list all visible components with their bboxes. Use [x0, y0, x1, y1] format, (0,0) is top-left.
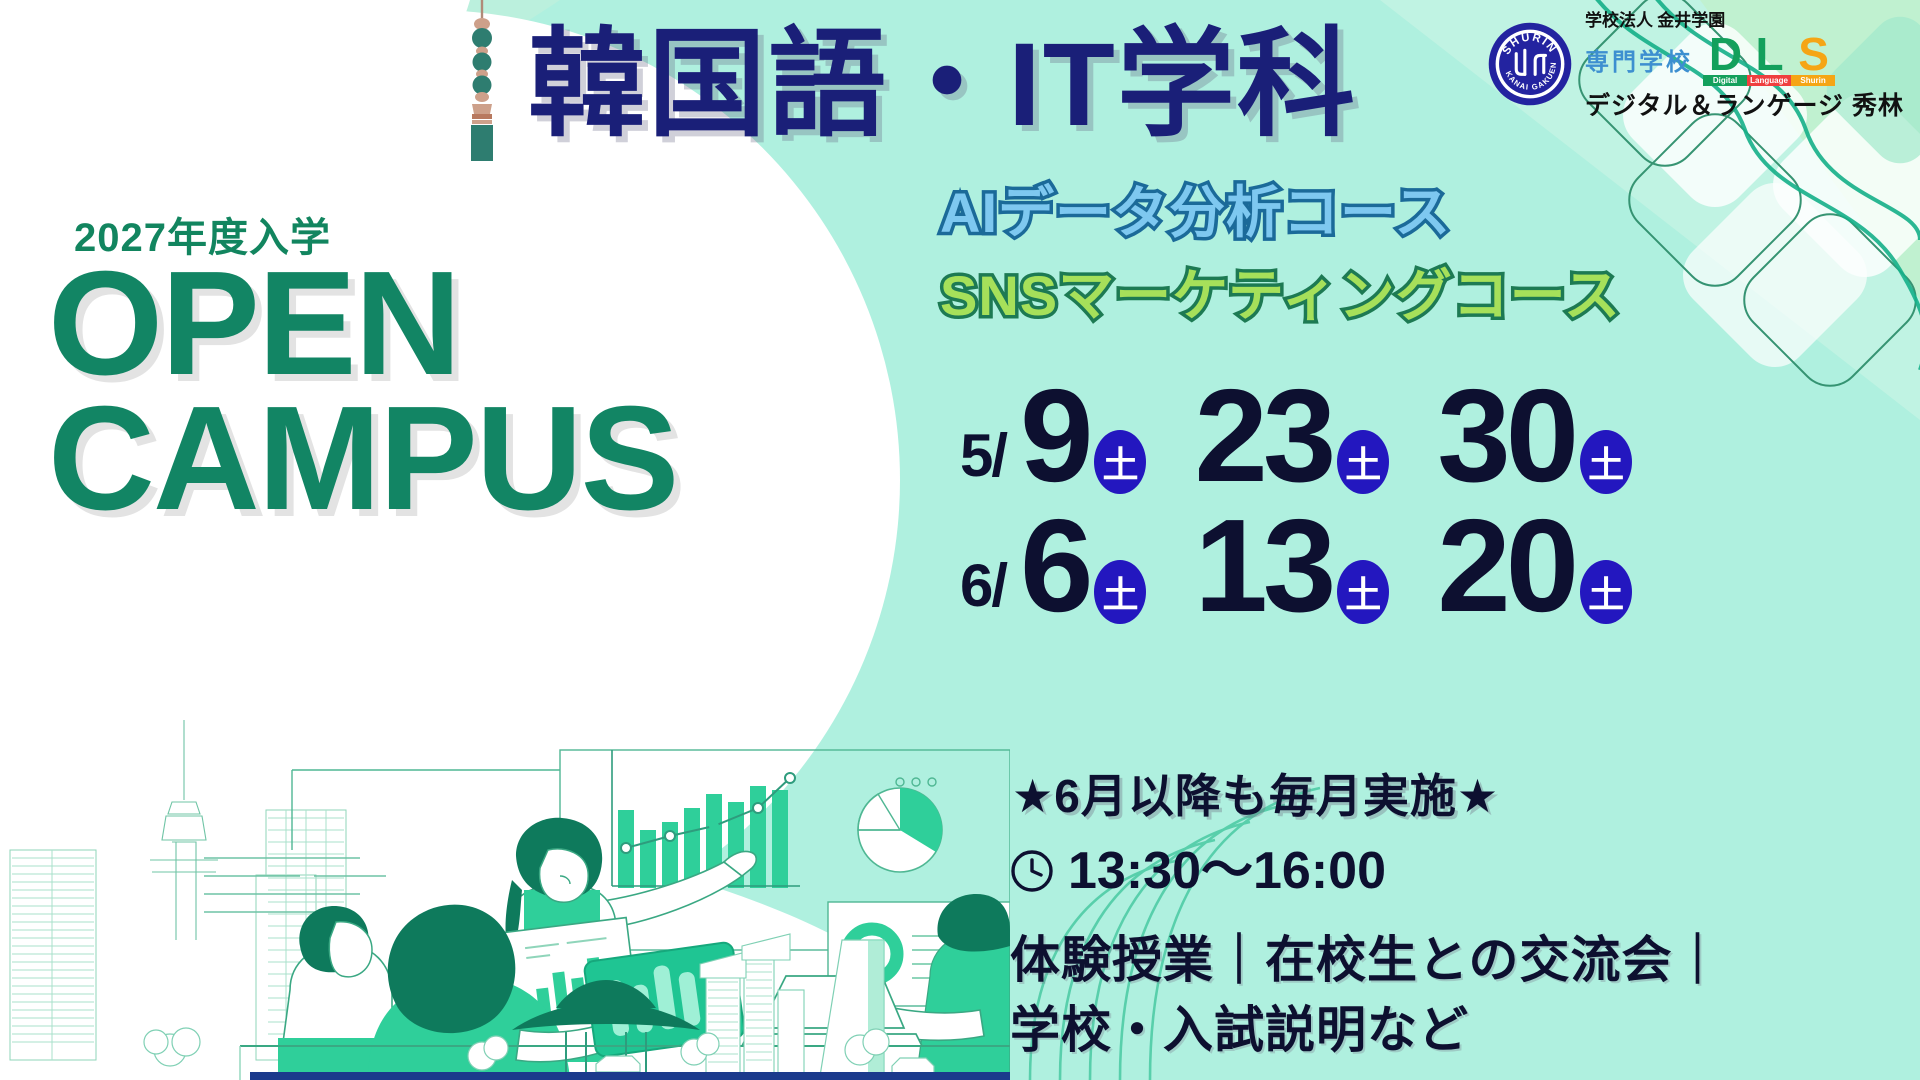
dls-letter-l: L Language [1747, 33, 1791, 85]
event-time-row: 13:30〜16:00 [1010, 845, 1386, 897]
school-type-label: 専門学校 [1585, 42, 1693, 77]
day-of-week-badge: 土 [1580, 560, 1632, 624]
data-analysis-team-seoul-skyline-illustration [0, 690, 1010, 1080]
dls-l-sub: Language [1747, 75, 1791, 86]
page-title: 韓国語・IT学科 [528, 18, 1357, 154]
poster-root: 2027年度入学 OPEN CAMPUS 韓国語・IT学科 AIデータ分析コース… [0, 0, 1920, 1080]
date-day: 6 [1020, 500, 1088, 632]
event-contents-line-2: 学校・入試説明など [1010, 1005, 1469, 1055]
logo-school-row: 専門学校 D Digital L Language S Shurin [1585, 33, 1904, 85]
dls-l-letter: L [1755, 33, 1782, 75]
dls-d-letter: D [1709, 33, 1741, 75]
corporation-name: 学校法人 金井学園 [1585, 6, 1725, 31]
dls-d-sub: Digital [1703, 75, 1747, 86]
course-label-sns: SNSマーケティングコース [940, 268, 1621, 324]
event-contents-line-1: 体験授業｜在校生との交流会｜ [1010, 935, 1724, 985]
day-of-week-badge: 土 [1337, 430, 1389, 494]
korean-norigae-tassel-icon [452, 0, 512, 162]
clock-icon [1010, 849, 1054, 893]
day-of-week-badge: 土 [1337, 560, 1389, 624]
date-day: 13 [1194, 500, 1331, 632]
schedule-row-june: 6/ 6 土 13 土 20 土 [960, 500, 1632, 632]
school-full-name: デジタル＆ランゲージ 秀林 [1585, 86, 1904, 122]
monthly-note: ★6月以降も毎月実施★ [1012, 760, 1499, 826]
month-label: 6/ [960, 556, 1006, 632]
dls-s-sub: Shurin [1791, 75, 1835, 86]
dls-letter-s: S Shurin [1791, 33, 1835, 85]
dls-mark: D Digital L Language S Shurin [1703, 33, 1835, 85]
logo-text-block: 学校法人 金井学園 専門学校 D Digital L Language S Sh… [1585, 6, 1904, 122]
course-label-ai: AIデータ分析コース [940, 185, 1451, 241]
day-of-week-badge: 土 [1580, 430, 1632, 494]
campus-heading: CAMPUS [48, 385, 677, 533]
dls-letter-d: D Digital [1703, 33, 1747, 85]
school-logo: SHURIN KANAI GAKUEN 学校法人 金井学園 専門学校 D [1487, 6, 1904, 122]
month-label: 5/ [960, 426, 1006, 502]
dls-s-letter: S [1798, 33, 1828, 75]
shurin-kanai-gakuen-seal-icon: SHURIN KANAI GAKUEN [1487, 21, 1573, 107]
event-time: 13:30〜16:00 [1068, 845, 1386, 897]
date-day: 23 [1194, 370, 1331, 502]
day-of-week-badge: 土 [1094, 430, 1146, 494]
logo-corporation-row: 学校法人 金井学園 [1585, 6, 1904, 33]
day-of-week-badge: 土 [1094, 560, 1146, 624]
date-day: 20 [1437, 500, 1574, 632]
date-day: 9 [1020, 370, 1088, 502]
date-day: 30 [1437, 370, 1574, 502]
schedule-row-may: 5/ 9 土 23 土 30 土 [960, 370, 1632, 502]
